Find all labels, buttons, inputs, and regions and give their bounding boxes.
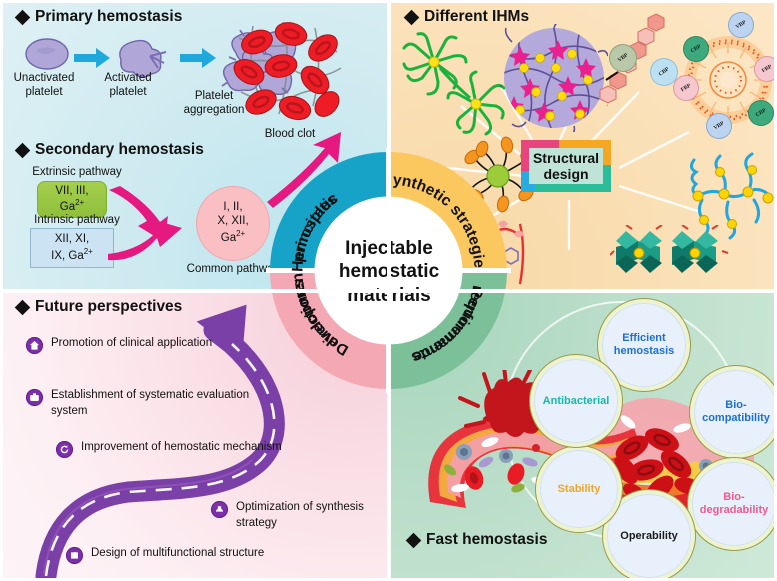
arrow-blue-2 [180,48,216,68]
label-unactivated-platelet: Unactivated platelet [6,72,82,99]
heading-fast-hemostasis: Fast hemostasis [408,531,547,549]
divider-horizontal [0,289,777,293]
requirement-bio-compatibility: Bio- compatibility [690,366,777,458]
requirement-antibacterial: Antibacterial [530,355,622,447]
blood-clot-illustration [229,18,347,128]
box-extrinsic-factors: VII, III, Ga2+ [37,181,107,218]
future-item-2-label: Establishment of systematic evaluation s… [51,388,283,419]
diamond-bullet-icon [406,532,422,548]
future-item-4-label: Optimization of synthesis strategy [236,500,377,531]
star-polymer-illustration [400,30,510,140]
future-item-1: Promotion of clinical application [26,336,212,354]
diamond-bullet-icon [15,9,31,25]
structural-design-box: Structural design [521,140,611,192]
puzzle-icon [66,547,83,564]
clipboard-icon [26,389,43,406]
heading-primary-hemostasis-label: Primary hemostasis [35,8,182,26]
future-item-1-label: Promotion of clinical application [51,336,212,352]
structural-design-label: Structural design [521,140,611,192]
requirement-bio-degradability: Bio- degradability [688,458,777,550]
arrow-magenta-converge [100,168,210,274]
hydrogel-network-sphere [500,24,608,132]
future-item-5: Design of multifunctional structure [66,546,356,564]
heading-secondary-hemostasis-label: Secondary hemostasis [35,141,204,159]
diamond-bullet-icon [15,142,31,158]
label-activated-platelet: Activated platelet [92,72,164,99]
figure-canvas: Primary hemostasis [0,0,777,581]
arrow-blue-1 [74,48,110,68]
heading-fast-hemostasis-label: Fast hemostasis [426,531,547,549]
future-item-2: Establishment of systematic evaluation s… [26,388,296,419]
future-item-5-label: Design of multifunctional structure [91,546,264,562]
future-item-4: Optimization of synthesis strategy [211,500,377,531]
future-item-3-label: Improvement of hemostatic mechanism [81,440,282,456]
refresh-icon [56,441,73,458]
requirement-stability: Stability [536,446,622,532]
heading-primary-hemostasis: Primary hemostasis [17,8,182,26]
mof-cage-illustration [610,225,730,291]
future-item-3: Improvement of hemostatic mechanism [56,440,296,458]
heading-secondary-hemostasis: Secondary hemostasis [17,141,204,159]
flask-icon [211,501,228,518]
home-icon [26,337,43,354]
